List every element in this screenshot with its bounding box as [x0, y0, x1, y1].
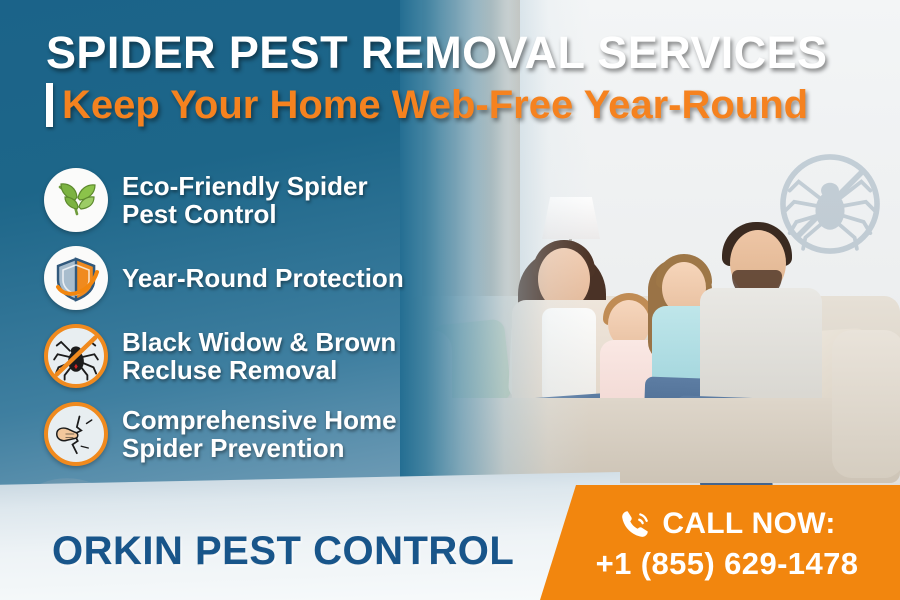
hand-sealing-crack-icon: [44, 402, 108, 466]
leaf-icon: [44, 168, 108, 232]
subheadline-row: Keep Your Home Web-Free Year-Round: [46, 83, 876, 127]
cta-title-row: CALL NOW:: [618, 507, 835, 541]
feature-item-home-prevention: Comprehensive Home Spider Prevention: [44, 402, 444, 466]
feature-line-1: Comprehensive Home: [122, 406, 397, 434]
feature-label: Eco-Friendly Spider Pest Control: [122, 172, 368, 228]
father-tshirt: [700, 288, 822, 408]
call-now-cta[interactable]: CALL NOW: +1 (855) 629-1478: [540, 485, 900, 600]
feature-item-year-round-protection: Year-Round Protection: [44, 246, 444, 310]
subheadline-accent-bar: [46, 83, 53, 127]
feature-item-eco-friendly: Eco-Friendly Spider Pest Control: [44, 168, 444, 232]
feature-line-2: Spider Prevention: [122, 434, 397, 462]
shield-icon: [44, 246, 108, 310]
couch-arm-right: [832, 330, 900, 478]
feature-item-black-widow-removal: Black Widow & Brown Recluse Removal: [44, 324, 444, 388]
cta-phone-number[interactable]: +1 (855) 629-1478: [596, 548, 859, 579]
feature-label: Year-Round Protection: [122, 264, 404, 292]
feature-line-1: Year-Round Protection: [122, 264, 404, 292]
brand-name: ORKIN PEST CONTROL: [52, 529, 514, 574]
feature-line-1: Eco-Friendly Spider: [122, 172, 368, 200]
feature-line-1: Black Widow & Brown: [122, 328, 396, 356]
page-title: SPIDER PEST REMOVAL SERVICES: [46, 30, 876, 75]
no-spider-icon: [44, 324, 108, 388]
headline-block: SPIDER PEST REMOVAL SERVICES Keep Your H…: [46, 30, 876, 127]
phone-ringing-icon: [618, 507, 652, 541]
feature-list: Eco-Friendly Spider Pest Control Year-Ro…: [44, 168, 444, 480]
feature-line-2: Pest Control: [122, 200, 368, 228]
feature-label: Black Widow & Brown Recluse Removal: [122, 328, 396, 384]
advertisement-banner: SPIDER PEST REMOVAL SERVICES Keep Your H…: [0, 0, 900, 600]
subheadline: Keep Your Home Web-Free Year-Round: [62, 85, 808, 125]
feature-label: Comprehensive Home Spider Prevention: [122, 406, 397, 462]
feature-line-2: Recluse Removal: [122, 356, 396, 384]
cta-title: CALL NOW:: [662, 509, 835, 539]
